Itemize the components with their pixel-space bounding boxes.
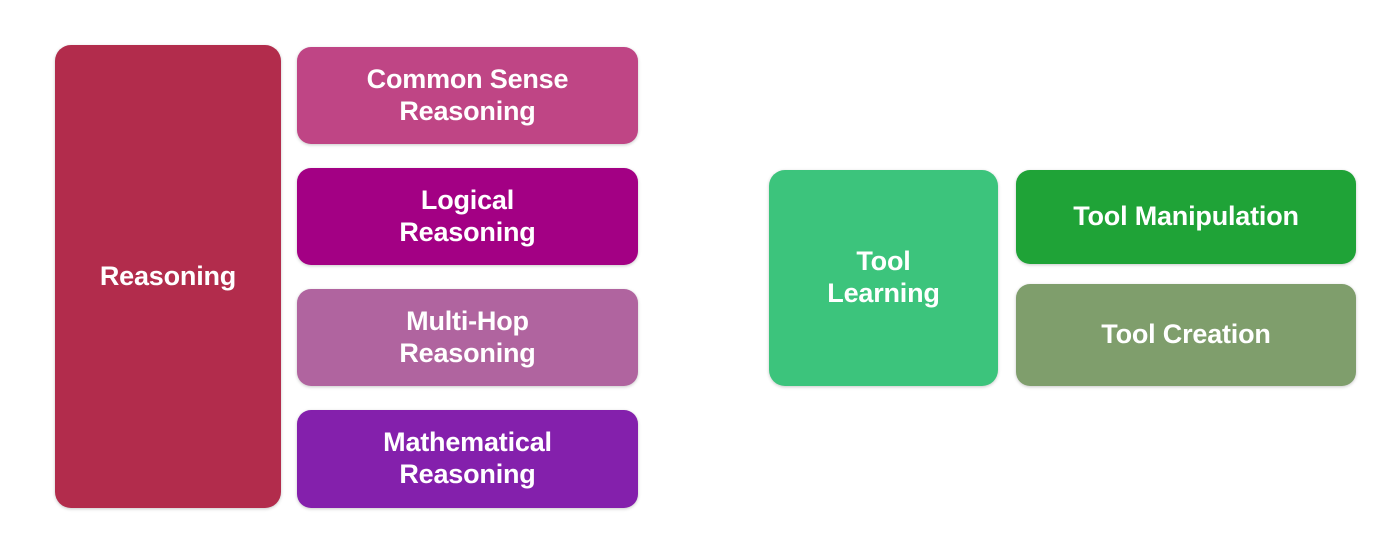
multi-hop-reasoning-box: Multi-Hop Reasoning bbox=[297, 289, 638, 386]
reasoning-category-box: Reasoning bbox=[55, 45, 281, 508]
mathematical-reasoning-box: Mathematical Reasoning bbox=[297, 410, 638, 508]
tool-learning-category-box: Tool Learning bbox=[769, 170, 998, 386]
logical-reasoning-box: Logical Reasoning bbox=[297, 168, 638, 265]
taxonomy-diagram: Reasoning Common Sense Reasoning Logical… bbox=[0, 0, 1400, 557]
common-sense-reasoning-box: Common Sense Reasoning bbox=[297, 47, 638, 144]
tool-creation-box: Tool Creation bbox=[1016, 284, 1356, 386]
tool-manipulation-box: Tool Manipulation bbox=[1016, 170, 1356, 264]
